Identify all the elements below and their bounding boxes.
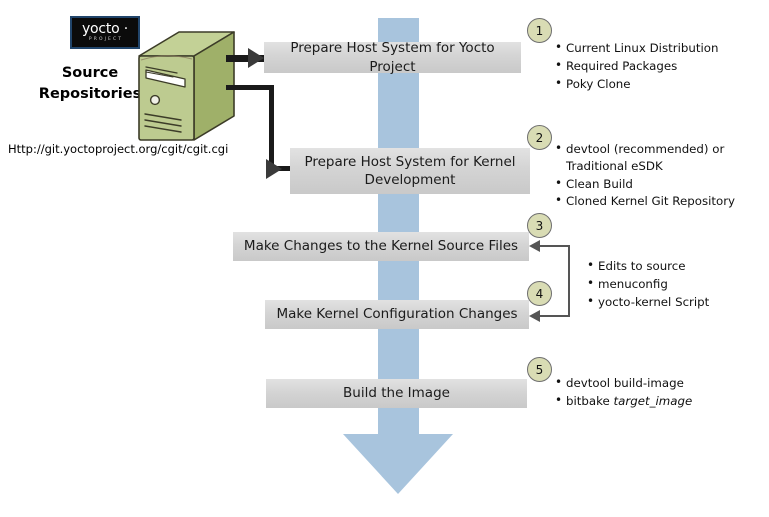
feedback-bracket-arrowhead-top	[529, 240, 540, 252]
note-bitbake-target: target_image	[614, 394, 693, 408]
source-label-line-2: Repositories	[34, 84, 146, 105]
step-badge-5-number: 5	[536, 363, 544, 377]
flow-arrow-head	[343, 434, 453, 494]
note-item: menuconfig	[598, 276, 709, 293]
yocto-logo-subtext: PROJECT	[89, 38, 123, 43]
step-badge-4-number: 4	[536, 287, 544, 301]
step-badge-2-number: 2	[536, 131, 544, 145]
source-repositories-label: Source Repositories	[34, 63, 146, 105]
step-badge-2: 2	[527, 125, 552, 150]
process-box-step-1[interactable]: Prepare Host System for Yocto Project	[264, 42, 521, 73]
step-badge-3: 3	[527, 213, 552, 238]
note-item: yocto-kernel Script	[598, 294, 709, 311]
note-item: Current Linux Distribution	[566, 40, 718, 57]
connector-server-to-step2-horizontal-top	[226, 85, 274, 90]
connector-arrowhead-step2	[266, 159, 282, 179]
process-box-step-2[interactable]: Prepare Host System for Kernel Developme…	[290, 148, 530, 194]
note-item: Cloned Kernel Git Repository	[566, 193, 735, 210]
process-box-step-3[interactable]: Make Changes to the Kernel Source Files	[233, 232, 529, 261]
note-item-bitbake: bitbake target_image	[566, 393, 692, 410]
process-box-label-2: Prepare Host System for Kernel Developme…	[298, 153, 522, 189]
note-item: Poky Clone	[566, 76, 718, 93]
notes-step-5: devtool build-image bitbake target_image	[553, 375, 692, 411]
step-badge-3-number: 3	[536, 219, 544, 233]
connector-arrowhead-step1	[248, 48, 264, 68]
step-badge-1-number: 1	[536, 24, 544, 38]
server-tower-icon	[133, 30, 241, 145]
source-label-line-1: Source	[34, 63, 146, 84]
note-item: Edits to source	[598, 258, 709, 275]
step-badge-4: 4	[527, 281, 552, 306]
step-badge-1: 1	[527, 18, 552, 43]
notes-steps-3-and-4: Edits to source menuconfig yocto-kernel …	[585, 258, 709, 311]
process-box-step-4[interactable]: Make Kernel Configuration Changes	[265, 300, 529, 329]
note-bitbake-prefix: bitbake	[566, 394, 614, 408]
note-item: devtool (recommended) or Traditional eSD…	[566, 141, 731, 175]
yocto-project-logo: yocto · PROJECT	[70, 16, 140, 49]
process-box-step-5[interactable]: Build the Image	[266, 379, 527, 408]
process-box-label-5: Build the Image	[343, 384, 450, 402]
note-item: devtool build-image	[566, 375, 692, 392]
process-box-label-4: Make Kernel Configuration Changes	[276, 305, 517, 323]
flow-arrow-shaft	[378, 18, 419, 435]
feedback-bracket-arrowhead-bottom	[529, 310, 540, 322]
notes-step-2: devtool (recommended) or Traditional eSD…	[553, 141, 735, 211]
feedback-bracket-top-arm	[540, 245, 570, 247]
process-box-label-1: Prepare Host System for Yocto Project	[272, 39, 513, 75]
diagram-canvas: yocto · PROJECT Source Repositories Http…	[0, 0, 769, 517]
note-item: Clean Build	[566, 176, 735, 193]
notes-step-1: Current Linux Distribution Required Pack…	[553, 40, 718, 93]
feedback-bracket-vertical	[568, 245, 570, 317]
note-item: Required Packages	[566, 58, 718, 75]
process-box-label-3: Make Changes to the Kernel Source Files	[244, 237, 518, 255]
feedback-bracket-bottom-arm	[540, 315, 570, 317]
yocto-logo-wordmark: yocto ·	[82, 22, 128, 36]
step-badge-5: 5	[527, 357, 552, 382]
